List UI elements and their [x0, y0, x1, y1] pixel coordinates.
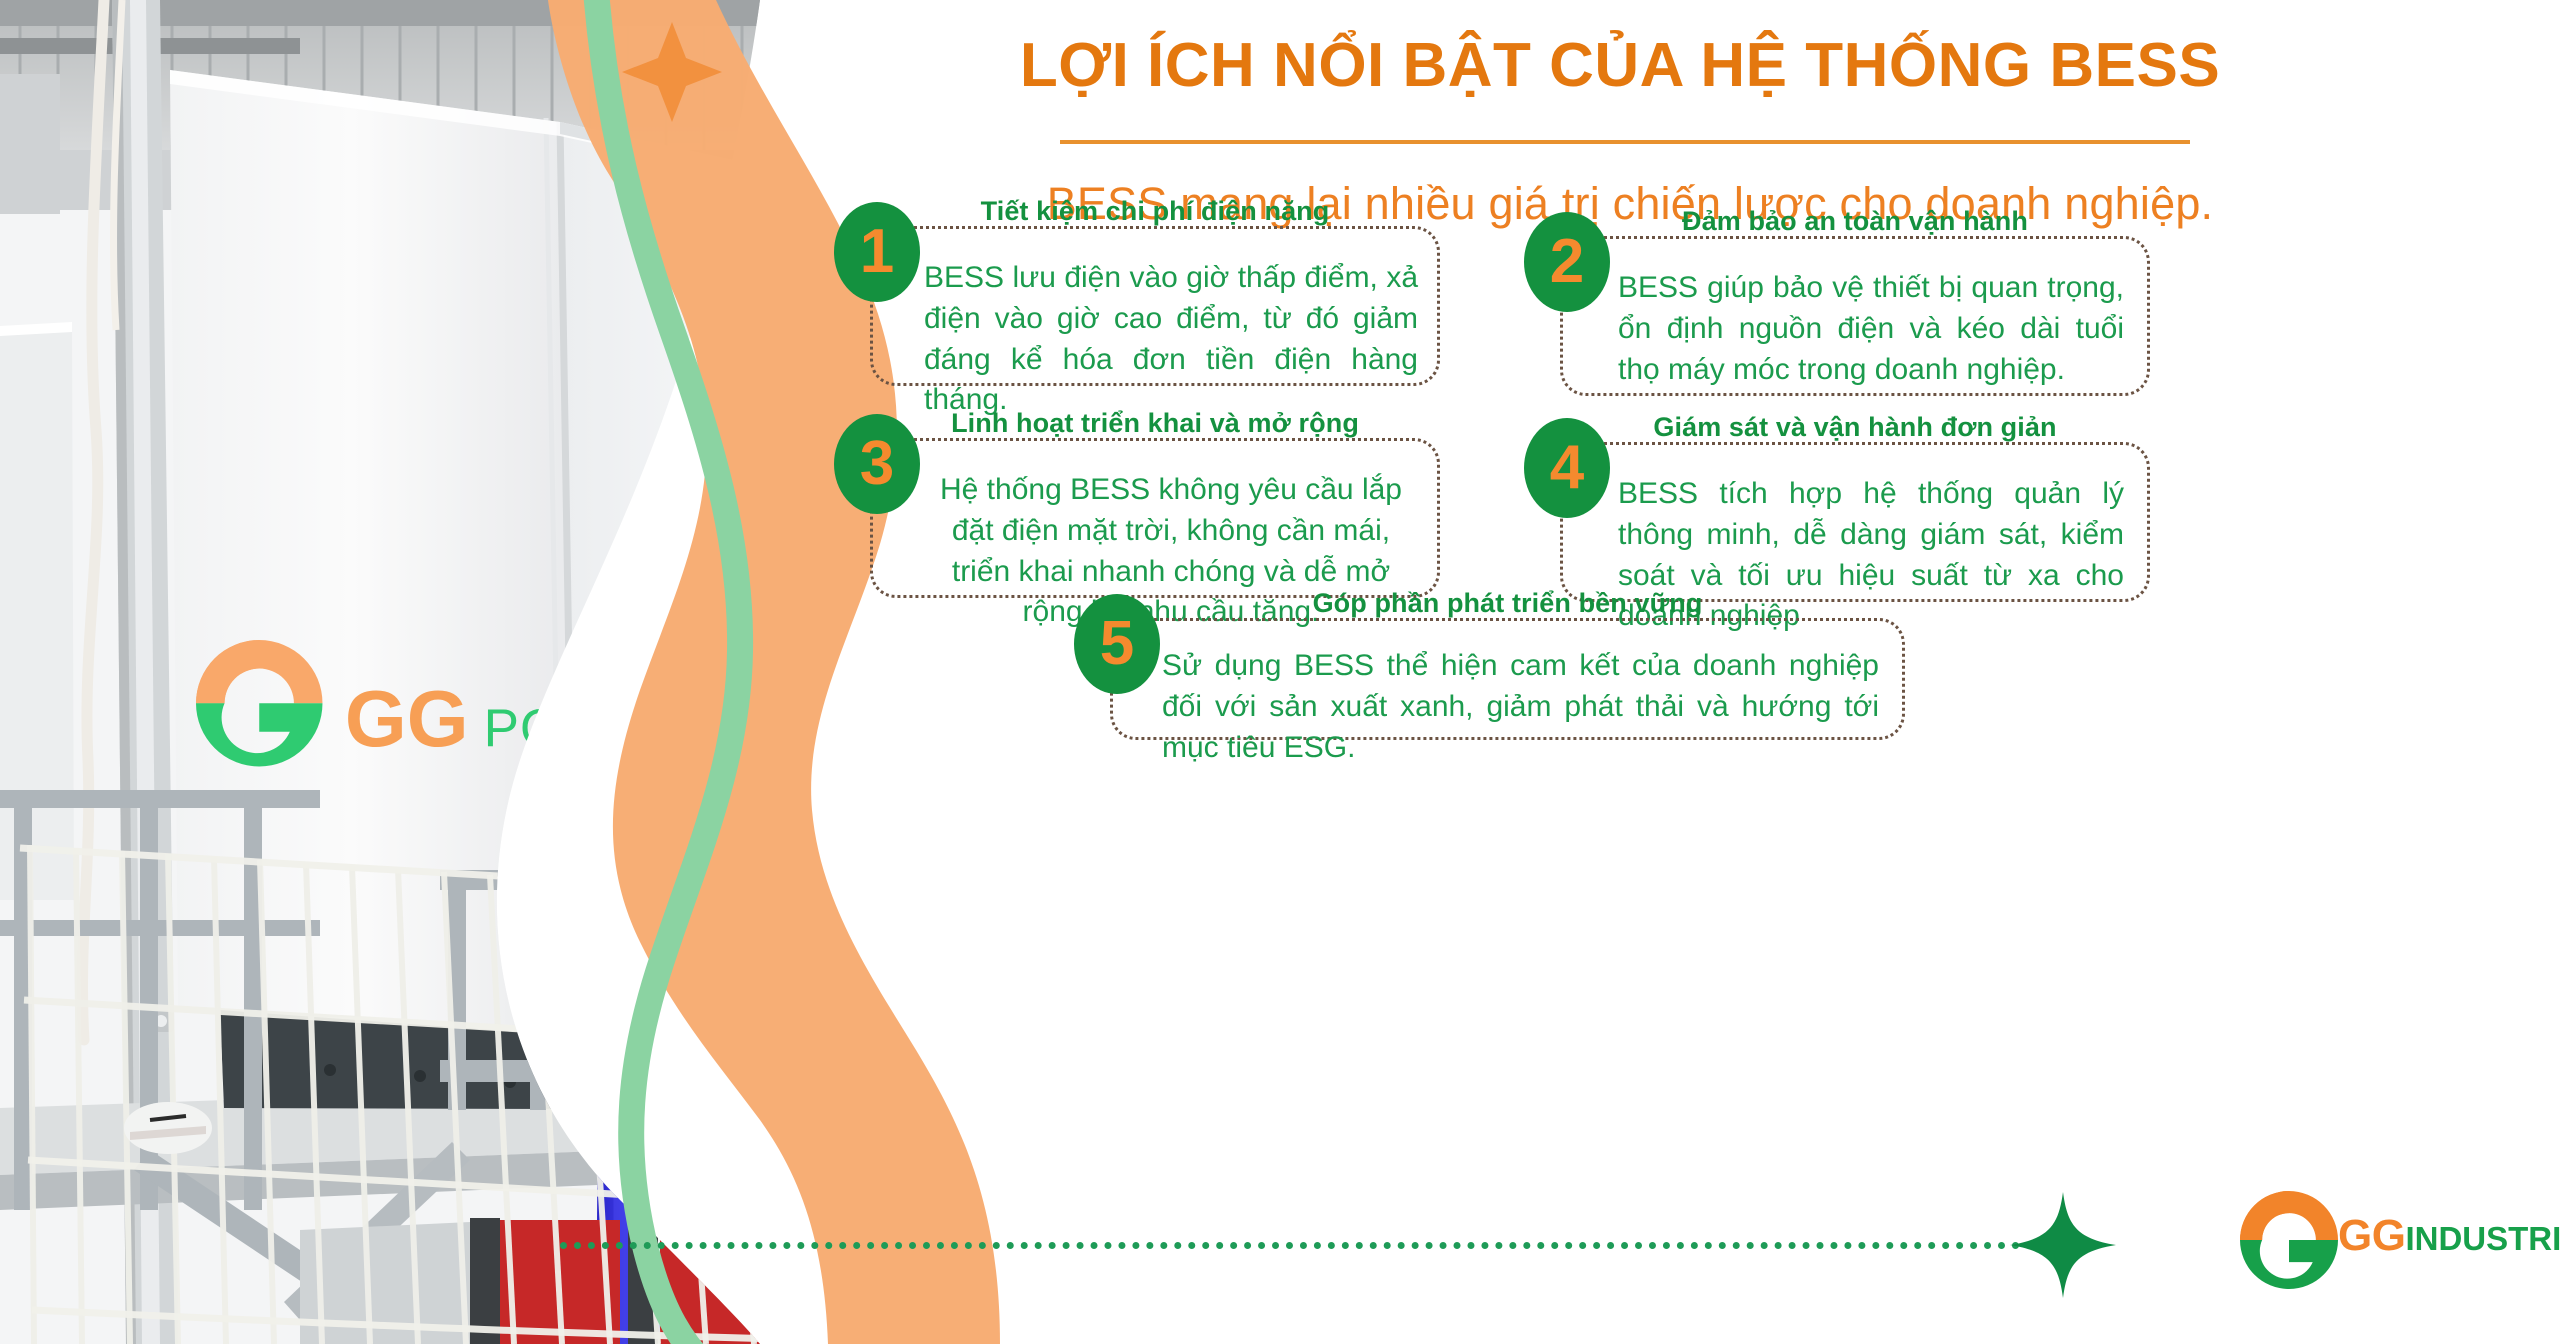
page-title: LỢI ÍCH NỔI BẬT CỦA HỆ THỐNG BESS: [880, 32, 2360, 100]
benefit-card-1: Tiết kiệm chi phí điện năng 1 BESS lưu đ…: [870, 196, 1440, 386]
svg-text:POWER: POWER: [484, 699, 689, 758]
gg-word: GG: [2338, 1211, 2405, 1260]
sparkle-green-icon: [2010, 1192, 2116, 1298]
gg-industries-wordmark: GGINDUSTRIES: [2338, 1211, 2560, 1261]
benefit-card-2-number-badge: 2: [1524, 212, 1610, 312]
benefit-card-2-heading: Đảm bảo an toàn vận hành: [1560, 206, 2150, 237]
footer-dotted-line: [560, 1242, 2020, 1249]
benefit-card-5-number-badge: 5: [1074, 594, 1160, 694]
benefit-card-5-heading: Góp phần phát triển bền vững: [1110, 588, 1905, 619]
benefit-card-2-body: BESS giúp bảo vệ thiết bị quan trọng, ổn…: [1618, 268, 2124, 390]
benefit-card-3: Linh hoạt triển khai và mở rộng 3 Hệ thố…: [870, 408, 1440, 598]
benefit-card-5: Góp phần phát triển bền vững 5 Sử dụng B…: [1110, 588, 1905, 740]
benefit-card-2: Đảm bảo an toàn vận hành 2 BESS giúp bảo…: [1560, 206, 2150, 396]
benefit-card-4-heading: Giám sát và vận hành đơn giản: [1560, 412, 2150, 443]
benefit-card-1-number-badge: 1: [834, 202, 920, 302]
infographic-canvas: GG POWER: [0, 0, 2560, 1344]
benefit-card-3-heading: Linh hoạt triển khai và mở rộng: [870, 408, 1440, 439]
benefit-card-4: Giám sát và vận hành đơn giản 4 BESS tíc…: [1560, 412, 2150, 602]
benefit-card-4-number-badge: 4: [1524, 418, 1610, 518]
gg-logo-mark-icon: [2240, 1191, 2338, 1289]
benefit-card-3-number-badge: 3: [834, 414, 920, 514]
benefit-card-1-body: BESS lưu điện vào giờ thấp điểm, xả điện…: [924, 258, 1418, 421]
title-underline: [1060, 140, 2190, 144]
industries-word: INDUSTRIES: [2405, 1220, 2560, 1257]
content-column: LỢI ÍCH NỔI BẬT CỦA HỆ THỐNG BESS BESS m…: [880, 0, 2560, 1344]
benefit-card-5-body: Sử dụng BESS thể hiện cam kết của doanh …: [1162, 646, 1879, 768]
gg-industries-logo: GGINDUSTRIES: [2240, 1185, 2560, 1305]
svg-text:GG: GG: [345, 674, 469, 763]
benefit-card-1-heading: Tiết kiệm chi phí điện năng: [870, 196, 1440, 227]
